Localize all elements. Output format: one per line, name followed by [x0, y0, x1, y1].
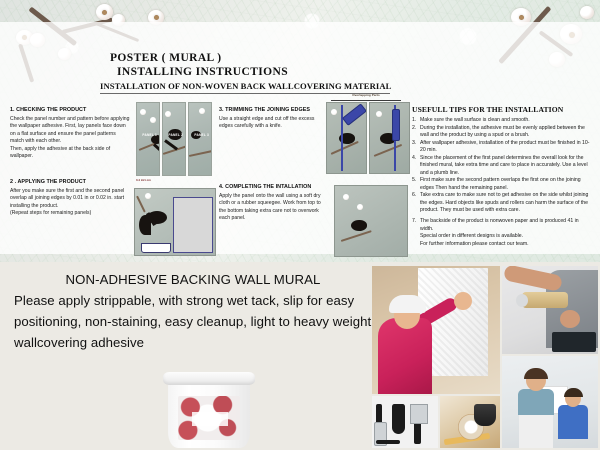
squeegee-icon	[392, 404, 405, 434]
blossom-center	[519, 15, 524, 20]
step-2-body: After you make sure the first and the se…	[10, 188, 132, 218]
child-hair	[564, 388, 583, 397]
tip-number: 6.	[412, 192, 416, 199]
bird-tail-icon	[153, 143, 160, 153]
bucket-label-text-block	[192, 412, 228, 426]
bird-tail-icon	[164, 139, 178, 150]
overlap-measure-bar	[331, 100, 401, 101]
step-4-completing-the-installation: 4. COMPLETING THE INTALLATION Apply the …	[219, 184, 329, 223]
roller-bristles-icon	[139, 215, 151, 235]
measure-label-1: 0.4 in/1 cm	[136, 178, 151, 182]
tip-number: 4.	[412, 155, 416, 162]
roller-end-cap	[516, 294, 528, 307]
tip-text: First make sure the second pattern overl…	[420, 177, 581, 190]
overlap-photo-left	[326, 102, 367, 174]
hands-rolling-wallpaper-photo	[502, 266, 598, 354]
panel-thumb-1: PANEL 1	[136, 102, 160, 176]
tip-number: 5.	[412, 177, 416, 184]
step-3-trimming-the-joining-edges: 3. TRIMMING THE JOINING EDGES Use a stra…	[219, 107, 324, 131]
step-3-body: Use a straight edge and cut off the exce…	[219, 116, 324, 131]
step-1-body: Check the panel number and pattern befor…	[10, 116, 130, 160]
step-3-overlap-illustration	[326, 102, 410, 174]
step-3-heading: 3. TRIMMING THE JOINING EDGES	[219, 107, 324, 114]
tip-number: 7.	[412, 218, 416, 225]
poster-instruction-sheet: POSTER ( MURAL ) INSTALLING INSTRUCTIONS…	[0, 0, 600, 450]
adult-figure	[516, 370, 556, 436]
blossom-center	[154, 15, 159, 20]
knife-icon	[342, 103, 367, 126]
woman-torso	[378, 318, 432, 394]
product-headline: NON-ADHESIVE BACKING WALL MURAL	[14, 270, 372, 290]
straight-edge-icon	[341, 105, 343, 171]
tool-case	[552, 332, 596, 352]
worker-forearm	[503, 266, 563, 292]
paint-roller-icon	[522, 292, 568, 308]
blossom-decoration	[580, 6, 594, 19]
workbench-paste-photo	[440, 396, 500, 448]
step-1-checking-the-product: 1. CHECKING THE PRODUCT Check the panel …	[10, 107, 130, 160]
tip-item: 3.After wallpaper adhesive, installation…	[412, 140, 592, 155]
tip-text: The backside of the product is nonwoven …	[420, 218, 579, 231]
bird-icon	[351, 220, 367, 231]
branch-icon	[136, 196, 146, 213]
adult-shirt	[518, 389, 554, 415]
adhesive-bucket-photo	[166, 372, 252, 448]
blossom-icon	[165, 111, 171, 117]
instructions-region: POSTER ( MURAL ) INSTALLING INSTRUCTIONS…	[0, 0, 600, 262]
panel-label: PANEL 1	[142, 133, 157, 137]
tip-text: Take extra care to make sure not to get …	[420, 192, 588, 213]
photo-collage	[372, 266, 598, 448]
blossom-icon	[343, 194, 349, 200]
overlapping-parts-label: Overlapping Parts	[331, 93, 401, 97]
tip-text: Special order in different designs is av…	[420, 233, 523, 239]
step-2-applying-the-product: 2 . APPLYING THE PRODUCT After you make …	[10, 179, 132, 218]
step-4-body: Apply the panel onto the wall using a so…	[219, 193, 329, 223]
tip-item: 7.The backside of the product is nonwove…	[412, 218, 592, 233]
paste-tray-shape	[141, 243, 171, 253]
woman-cap	[389, 295, 426, 313]
smoothing-brush-handle	[376, 404, 382, 424]
tips-list: 1.Make sure the wall surface is clean an…	[412, 117, 592, 249]
bucket-lid	[163, 372, 255, 385]
product-description: NON-ADHESIVE BACKING WALL MURAL Please a…	[14, 270, 372, 353]
panel-thumb-2: PANEL 2	[162, 102, 186, 176]
tip-item: 4.Since the placement of the first panel…	[412, 155, 592, 177]
tip-number: 1.	[412, 117, 416, 124]
blossom-icon	[140, 109, 146, 115]
step-4-heading: 4. COMPLETING THE INTALLATION	[219, 184, 329, 191]
blossom-icon	[150, 117, 156, 123]
tip-text: Make sure the wall surface is clean and …	[420, 117, 530, 123]
branch-icon	[341, 230, 372, 242]
step-1-heading: 1. CHECKING THE PRODUCT	[10, 107, 130, 114]
material-subtitle: INSTALLATION OF NON-WOVEN BACK WALLCOVER…	[100, 81, 391, 91]
scraper-blade	[410, 404, 428, 424]
man-and-child-smoothing-wallpaper-photo	[502, 356, 598, 448]
tip-text: During the installation, the adhesive mu…	[420, 125, 585, 138]
blossom-icon	[145, 193, 151, 199]
blossom-icon	[199, 108, 205, 114]
blossom-center	[102, 10, 107, 15]
page-title: POSTER ( MURAL )	[110, 52, 222, 64]
tip-item: For further information please contact o…	[412, 241, 592, 248]
step-2-roller-illustration	[134, 188, 216, 256]
woman-hanging-wallpaper-photo	[372, 266, 500, 394]
worker-hand	[560, 310, 580, 328]
branch-icon	[189, 150, 212, 157]
wallpaper-tools-photo	[372, 396, 438, 448]
branch-icon	[374, 144, 403, 157]
blossom-icon	[376, 111, 382, 117]
child-figure	[558, 390, 588, 440]
knife-icon	[376, 440, 400, 444]
adult-trousers	[519, 414, 553, 448]
panel-label: PANEL 2	[168, 133, 183, 137]
tip-item: Special order in different designs is av…	[412, 233, 592, 240]
tip-text: After wallpaper adhesive, installation o…	[420, 140, 589, 153]
step-1-panel-illustration: PANEL 1 PANEL 2 PANEL 3	[136, 102, 212, 176]
tip-item: 6.Take extra care to make sure not to ge…	[412, 192, 592, 214]
tip-text: For further information please contact o…	[420, 241, 529, 247]
paste-pot-icon	[474, 404, 496, 426]
step-4-squeegee-illustration	[334, 185, 408, 257]
wallpaper-panel-shape	[173, 197, 213, 253]
white-instruction-sheet: POSTER ( MURAL ) INSTALLING INSTRUCTIONS…	[0, 22, 600, 254]
adult-hair	[524, 368, 548, 379]
blossom-icon	[357, 204, 363, 210]
knife-icon	[392, 109, 400, 141]
child-shirt	[558, 405, 588, 439]
step-2-heading: 2 . APPLYING THE PRODUCT	[10, 179, 132, 186]
panel-label: PANEL 3	[194, 133, 209, 137]
tips-heading: USEFULL TIPS FOR THE INSTALLATION	[412, 105, 592, 114]
woman-hand	[454, 292, 472, 310]
tip-item: 5.First make sure the second pattern ove…	[412, 177, 592, 192]
tip-number: 3.	[412, 140, 416, 147]
panel-thumb-3: PANEL 3	[188, 102, 212, 176]
page-subtitle: INSTALLING INSTRUCTIONS	[117, 66, 288, 78]
tip-item: 2.During the installation, the adhesive …	[412, 125, 592, 140]
product-body-text: Please apply strippable, with strong wet…	[14, 290, 372, 353]
tip-text: Since the placement of the first panel d…	[420, 155, 588, 176]
tip-item: 1.Make sure the wall surface is clean an…	[412, 117, 592, 124]
tip-number: 2.	[412, 125, 416, 132]
overlap-photo-right	[369, 102, 410, 174]
useful-tips-panel: USEFULL TIPS FOR THE INSTALLATION 1.Make…	[412, 105, 592, 249]
blossom-icon	[331, 109, 337, 115]
